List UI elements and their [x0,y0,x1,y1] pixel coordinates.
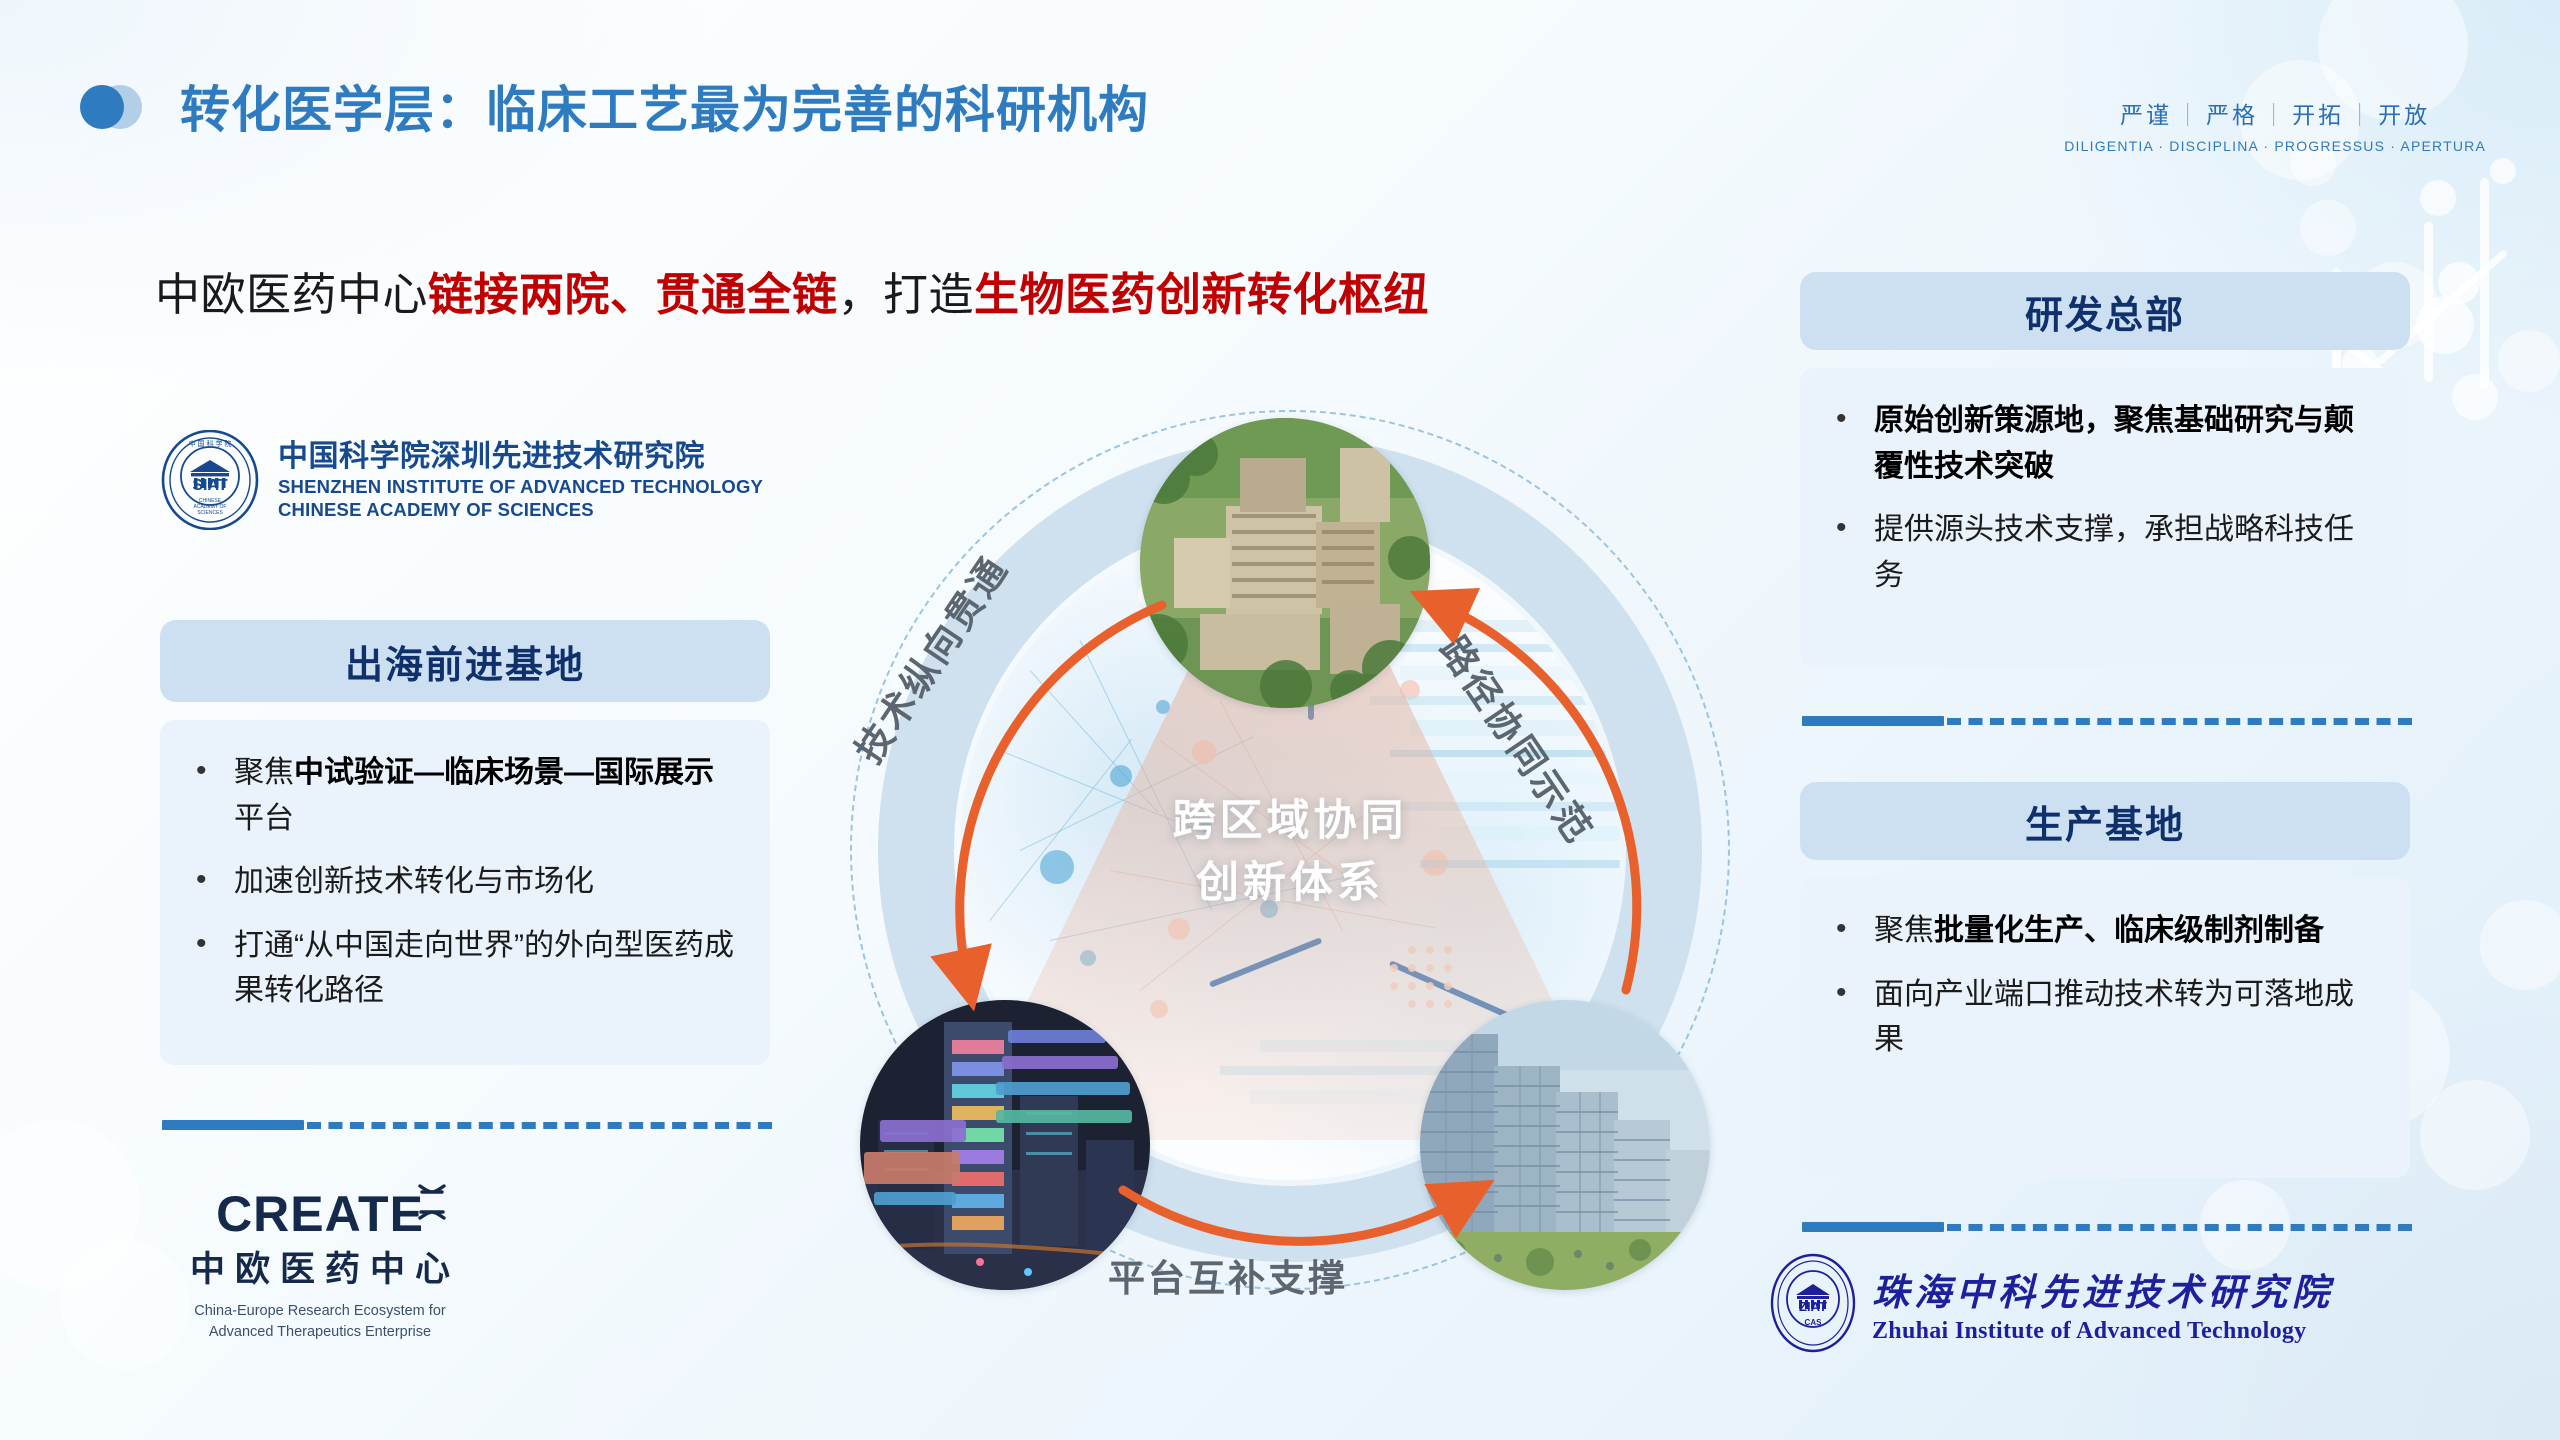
bullet-seg: 加速创新技术转化与市场化 [234,865,594,898]
motto-chinese: 严谨｜严格｜开拓｜开放 [2064,96,2486,130]
divider-right-1 [1802,716,2412,726]
bullet-list-yanfa: 原始创新策源地，聚焦基础研究与颠覆性技术突破 提供源头技术支撑，承担战略科技任务 [1822,398,2376,598]
siat-seal-icon: SIAT CHINESE ACADEMY OF SCIENCES 中 国 科 学… [160,430,260,530]
zhuhai-logo: ZIAT CAS 珠海中科先进技术研究院 Zhuhai Institute of… [1770,1253,2334,1353]
motto-word-2: 严格 [2206,102,2258,128]
bullet-seg: 聚焦 [1874,914,1934,947]
list-item: 原始创新策源地，聚焦基础研究与颠覆性技术突破 [1822,398,2376,489]
divider-left [162,1120,772,1130]
bullet-seg: 聚焦 [234,756,294,789]
siat-name-cn: 中国科学院深圳先进技术研究院 [278,441,763,473]
list-item: 加速创新技术转化与市场化 [182,859,736,905]
subtitle-highlight-1: 链接两院、贯通全链 [428,269,838,320]
zhuhai-name-cn: 珠海中科先进技术研究院 [1872,1262,2334,1316]
create-logo: CREATE 中欧医药中心 China-Europe Research Ecos… [160,1185,480,1343]
subtitle-part-2: ，打造 [838,269,975,320]
bullet-list-shengchan: 聚焦批量化生产、临床级制剂制备 面向产业端口推动技术转为可落地成果 [1822,908,2376,1063]
zhuhai-seal-icon: ZIAT CAS [1770,1253,1856,1353]
subtitle: 中欧医药中心链接两院、贯通全链，打造生物医药创新转化枢纽 [155,258,1429,323]
list-item: 聚焦中试验证—临床场景—国际展示平台 [182,750,736,841]
card-body-yanfa: 原始创新策源地，聚焦基础研究与颠覆性技术突破 提供源头技术支撑，承担战略科技任务 [1800,368,2410,668]
create-name-en-2: Advanced Therapeutics Enterprise [160,1322,480,1343]
card-title-shengchan: 生产基地 [1800,782,2410,860]
bullet-list-chuhai: 聚焦中试验证—临床场景—国际展示平台 加速创新技术转化与市场化 打通“从中国走向… [182,750,736,1014]
bullet-seg: 打通“从中国走向世界”的外向型医药成果转化路径 [234,929,734,1008]
central-diagram: 跨区域协同 创新体系 技术纵向贯通 路径协同示范 平台互补支撑 [840,400,1740,1320]
bullet-seg-bold: 中试验证—临床场景—国际展示 [294,756,714,789]
motto-word-1: 严谨 [2120,102,2172,128]
bullet-seg: 平台 [234,802,294,835]
svg-text:ZIAT: ZIAT [1799,1299,1827,1314]
list-item: 打通“从中国走向世界”的外向型医药成果转化路径 [182,923,736,1014]
bullet-seg: 提供源头技术支撑，承担战略科技任务 [1874,513,2354,592]
svg-text:SIAT: SIAT [192,477,227,494]
card-body-chuhai: 聚焦中试验证—临床场景—国际展示平台 加速创新技术转化与市场化 打通“从中国走向… [160,720,770,1065]
motto-latin: DILIGENTIA · DISCIPLINA · PROGRESSUS · A… [2064,138,2486,154]
card-yanfa-zongbu: 研发总部 原始创新策源地，聚焦基础研究与颠覆性技术突破 提供源头技术支撑，承担战… [1800,272,2410,668]
motto-word-4: 开放 [2378,102,2430,128]
card-shengchan-jidi: 生产基地 聚焦批量化生产、临床级制剂制备 面向产业端口推动技术转为可落地成果 [1800,782,2410,1178]
subtitle-part-1: 中欧医药中心 [155,269,428,320]
page-title-row: 转化医学层：临床工艺最为完善的科研机构 [78,70,1149,142]
divider-right-2 [1802,1222,2412,1232]
siat-logo: SIAT CHINESE ACADEMY OF SCIENCES 中 国 科 学… [160,430,763,530]
create-wordmark: CREATE [216,1185,424,1243]
svg-text:SCIENCES: SCIENCES [197,510,223,516]
motto-word-3: 开拓 [2292,102,2344,128]
bullet-seg-bold: 原始创新策源地，聚焦基础研究与颠覆性技术突破 [1874,404,2354,483]
motto-block: 严谨｜严格｜开拓｜开放 DILIGENTIA · DISCIPLINA · PR… [2064,96,2486,154]
diagram-center-line-2: 创新体系 [840,852,1740,914]
zhuhai-name-en: Zhuhai Institute of Advanced Technology [1872,1318,2334,1345]
list-item: 面向产业端口推动技术转为可落地成果 [1822,972,2376,1063]
diagram-label-bottom: 平台互补支撑 [1108,1248,1348,1302]
create-name-cn: 中欧医药中心 [160,1241,480,1292]
page-title: 转化医学层：临床工艺最为完善的科研机构 [180,70,1149,142]
card-chuhai-qianjin-jidi: 出海前进基地 聚焦中试验证—临床场景—国际展示平台 加速创新技术转化与市场化 打… [160,620,770,1065]
list-item: 聚焦批量化生产、临床级制剂制备 [1822,908,2376,954]
slide: 转化医学层：临床工艺最为完善的科研机构 严谨｜严格｜开拓｜开放 DILIGENT… [0,0,2560,1440]
list-item: 提供源头技术支撑，承担战略科技任务 [1822,507,2376,598]
siat-name-en-2: CHINESE ACADEMY OF SCIENCES [278,500,763,519]
card-title-chuhai: 出海前进基地 [160,620,770,702]
subtitle-highlight-2: 生物医药创新转化枢纽 [974,269,1429,320]
card-title-yanfa: 研发总部 [1800,272,2410,350]
bullet-seg: 面向产业端口推动技术转为可落地成果 [1874,978,2354,1057]
siat-name-en-1: SHENZHEN INSTITUTE OF ADVANCED TECHNOLOG… [278,477,763,496]
title-bullet-icon [78,83,152,129]
svg-text:中 国 科 学 院: 中 国 科 学 院 [189,439,232,448]
card-body-shengchan: 聚焦批量化生产、临床级制剂制备 面向产业端口推动技术转为可落地成果 [1800,878,2410,1178]
create-name-en-1: China-Europe Research Ecosystem for [160,1301,480,1322]
create-word-text: CREATE [216,1186,424,1242]
bullet-seg-bold: 批量化生产、临床级制剂制备 [1934,914,2324,947]
diagram-center-text: 跨区域协同 创新体系 [840,790,1740,915]
svg-text:CAS: CAS [1805,1318,1823,1327]
